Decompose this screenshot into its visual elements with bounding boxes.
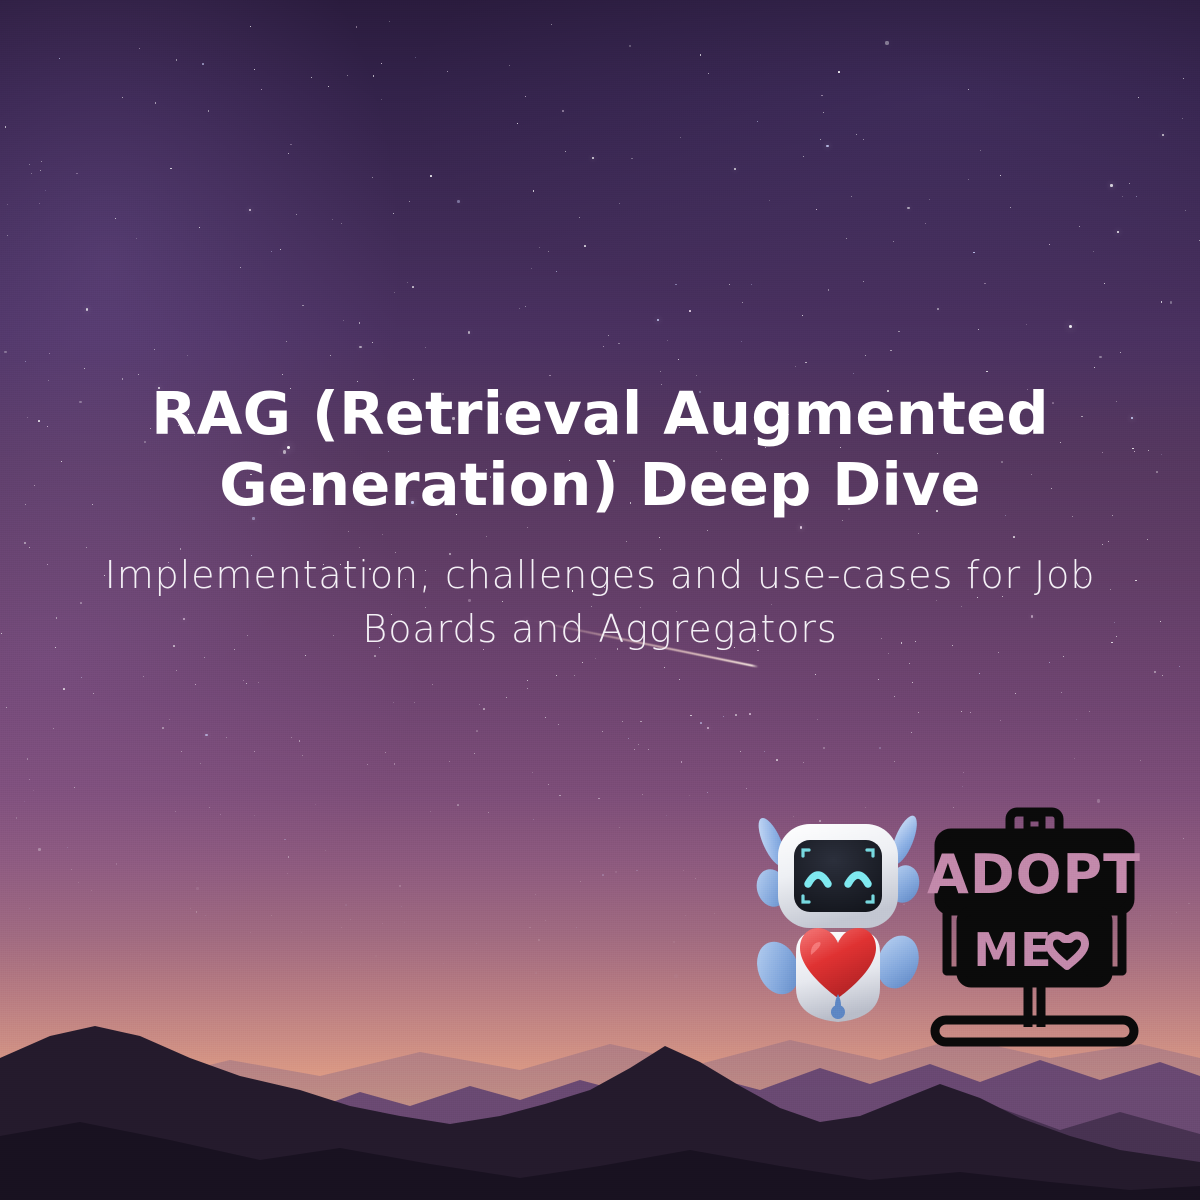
sign-line-1: ADOPT <box>927 843 1141 906</box>
title-block: RAG (Retrieval Augmented Generation) Dee… <box>0 378 1200 657</box>
page-title: RAG (Retrieval Augmented Generation) Dee… <box>14 378 1186 521</box>
robot-mascot-icon <box>748 802 928 1050</box>
adopt-me-sign-icon: ADOPT ME <box>927 804 1142 1054</box>
sign-line-2: ME <box>973 923 1052 977</box>
page-subtitle: Implementation, challenges and use-cases… <box>60 549 1140 657</box>
robot-and-sign-sticker: ADOPT ME <box>742 798 1142 1060</box>
sign-base-bar <box>935 1020 1134 1042</box>
slide-canvas: RAG (Retrieval Augmented Generation) Dee… <box>0 0 1200 1200</box>
